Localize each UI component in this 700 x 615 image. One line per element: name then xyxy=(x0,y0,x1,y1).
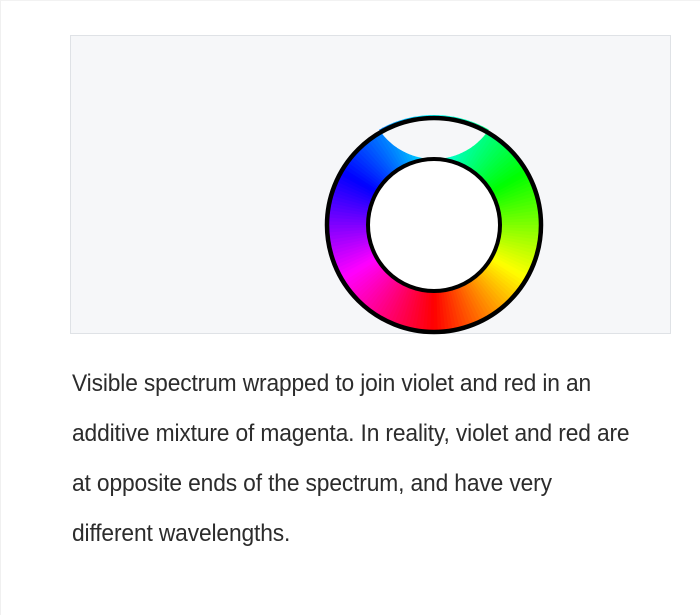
ring-inner-outline xyxy=(368,159,500,291)
caption-text: Visible spectrum wrapped to join violet … xyxy=(72,359,630,559)
hue-color-wheel-figure xyxy=(71,36,672,335)
figure-panel xyxy=(70,35,671,334)
figure-caption: Visible spectrum wrapped to join violet … xyxy=(72,359,672,559)
hue-color-wheel-icon xyxy=(71,36,672,335)
page-root: Visible spectrum wrapped to join violet … xyxy=(0,0,700,615)
